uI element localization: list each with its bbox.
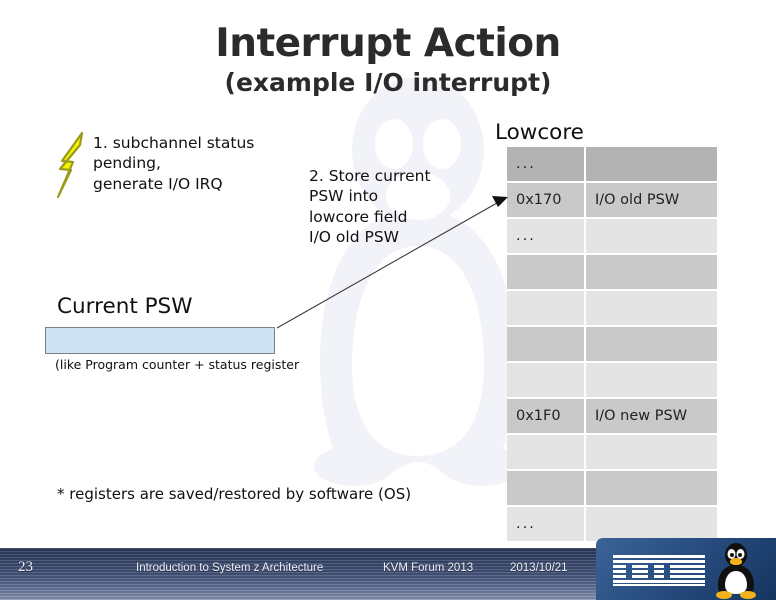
lowcore-field-cell <box>585 506 717 542</box>
lowcore-address-cell: ... <box>507 506 585 542</box>
annotation-step-1: 1. subchannel status pending, generate I… <box>93 133 254 194</box>
lowcore-field-cell <box>585 290 717 326</box>
table-row: 0x170I/O old PSW <box>507 182 717 218</box>
lowcore-address-cell <box>507 470 585 506</box>
page-number: 23 <box>18 559 33 576</box>
table-row <box>507 434 717 470</box>
lowcore-address-cell <box>507 290 585 326</box>
ibm-logo-icon <box>613 555 705 586</box>
table-row: 0x1F0I/O new PSW <box>507 398 717 434</box>
current-psw-label: Current PSW <box>57 294 192 319</box>
footnote-text: * registers are saved/restored by softwa… <box>57 485 411 503</box>
lowcore-address-cell <box>507 254 585 290</box>
lowcore-field-cell: I/O new PSW <box>585 398 717 434</box>
lowcore-field-cell <box>585 326 717 362</box>
table-row <box>507 254 717 290</box>
current-psw-caption: (like Program counter + status register <box>55 357 299 372</box>
lowcore-field-cell <box>585 362 717 398</box>
lowcore-address-cell <box>507 326 585 362</box>
table-row <box>507 290 717 326</box>
lowcore-field-cell <box>585 254 717 290</box>
lowcore-field-cell <box>585 470 717 506</box>
lowcore-address-cell: ... <box>507 147 585 182</box>
lowcore-address-cell <box>507 362 585 398</box>
lowcore-field-cell <box>585 434 717 470</box>
table-row: ... <box>507 218 717 254</box>
table-row <box>507 326 717 362</box>
footer-course-title: Introduction to System z Architecture <box>136 562 323 574</box>
page-title: Interrupt Action <box>0 24 776 65</box>
footer-event: KVM Forum 2013 <box>383 562 473 574</box>
tux-penguin-icon <box>710 543 762 599</box>
lowcore-field-cell <box>585 147 717 182</box>
lowcore-field-cell <box>585 218 717 254</box>
table-row: ... <box>507 506 717 542</box>
lowcore-label: Lowcore <box>495 120 584 145</box>
lowcore-address-cell: ... <box>507 218 585 254</box>
page-subtitle: (example I/O interrupt) <box>0 69 776 97</box>
footer-date: 2013/10/21 <box>510 562 568 574</box>
slide-title-block: Interrupt Action (example I/O interrupt) <box>0 24 776 96</box>
lowcore-table: ...0x170I/O old PSW...0x1F0I/O new PSW..… <box>507 147 717 543</box>
annotation-step-2: 2. Store current PSW into lowcore field … <box>309 166 431 248</box>
brand-logo-panel <box>596 538 776 600</box>
lightning-bolt-icon <box>52 131 94 199</box>
lowcore-address-cell: 0x1F0 <box>507 398 585 434</box>
lowcore-address-cell <box>507 434 585 470</box>
lowcore-address-cell: 0x170 <box>507 182 585 218</box>
lowcore-field-cell: I/O old PSW <box>585 182 717 218</box>
current-psw-box[interactable] <box>45 327 275 354</box>
table-row: ... <box>507 147 717 182</box>
table-row <box>507 470 717 506</box>
table-row <box>507 362 717 398</box>
